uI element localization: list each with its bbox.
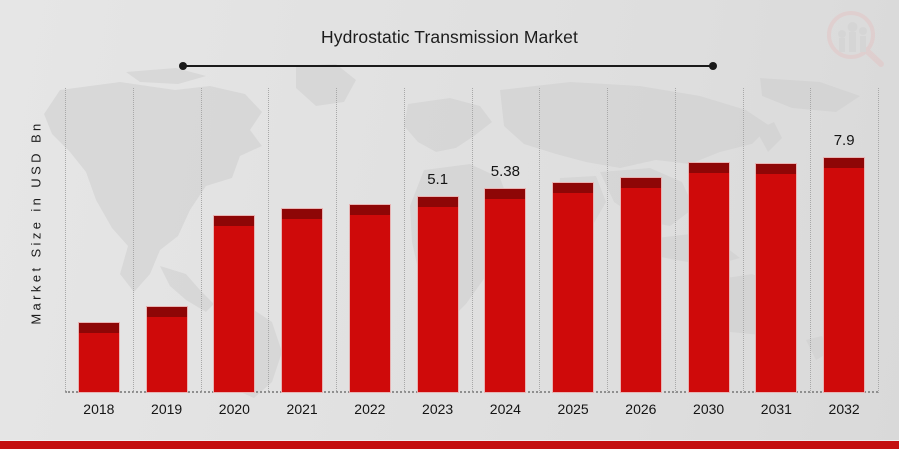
gridline <box>133 88 134 393</box>
plot-area: 5.15.387.9 <box>65 88 878 393</box>
gridline <box>65 88 66 393</box>
x-axis-label-2020: 2020 <box>204 401 264 417</box>
bar-2026[interactable] <box>620 177 662 393</box>
bar-2025[interactable] <box>552 182 594 393</box>
bar-cap <box>282 209 322 219</box>
bar-2030[interactable] <box>688 162 730 393</box>
bar-2024[interactable]: 5.38 <box>484 188 526 393</box>
bar-cap <box>756 164 796 174</box>
x-axis-label-2025: 2025 <box>543 401 603 417</box>
bar-2032[interactable]: 7.9 <box>823 157 865 393</box>
bar-cap <box>553 183 593 193</box>
chart-canvas: Hydrostatic Transmission Market Market S… <box>0 0 899 449</box>
bar-cap <box>418 197 458 207</box>
gridline <box>539 88 540 393</box>
bar-2019[interactable] <box>146 306 188 393</box>
bar-2020[interactable] <box>213 215 255 393</box>
page-title: Hydrostatic Transmission Market <box>0 27 899 48</box>
footer-accent-stripe <box>0 441 899 449</box>
x-axis-label-2031: 2031 <box>746 401 806 417</box>
bar-cap <box>147 307 187 317</box>
bar-value-label: 5.38 <box>491 163 520 180</box>
gridline <box>607 88 608 393</box>
gridline <box>743 88 744 393</box>
bar-cap <box>689 163 729 173</box>
gridline <box>878 88 879 393</box>
bar-2031[interactable] <box>755 163 797 393</box>
bar-cap <box>824 158 864 168</box>
gridline <box>404 88 405 393</box>
bar-cap <box>214 216 254 226</box>
gridline <box>201 88 202 393</box>
bar-2022[interactable] <box>349 204 391 393</box>
bar-2023[interactable]: 5.1 <box>417 196 459 393</box>
x-axis-label-2032: 2032 <box>814 401 874 417</box>
x-axis-label-2022: 2022 <box>340 401 400 417</box>
bar-cap <box>79 323 119 333</box>
x-axis-label-2019: 2019 <box>137 401 197 417</box>
x-axis-label-2018: 2018 <box>69 401 129 417</box>
bar-cap <box>485 189 525 199</box>
gridline <box>675 88 676 393</box>
title-underline-rule <box>183 65 713 67</box>
gridline <box>268 88 269 393</box>
gridline <box>472 88 473 393</box>
x-axis-label-2024: 2024 <box>475 401 535 417</box>
x-axis-label-2026: 2026 <box>611 401 671 417</box>
gridline <box>336 88 337 393</box>
x-axis-label-2023: 2023 <box>408 401 468 417</box>
bar-cap <box>350 205 390 215</box>
bar-cap <box>621 178 661 188</box>
x-axis-label-2030: 2030 <box>679 401 739 417</box>
gridline <box>810 88 811 393</box>
bar-value-label: 7.9 <box>834 132 855 149</box>
bar-2018[interactable] <box>78 322 120 393</box>
bar-value-label: 5.1 <box>427 171 448 188</box>
bar-2021[interactable] <box>281 208 323 393</box>
x-axis-label-2021: 2021 <box>272 401 332 417</box>
y-axis-title: Market Size in USD Bn <box>29 73 44 373</box>
